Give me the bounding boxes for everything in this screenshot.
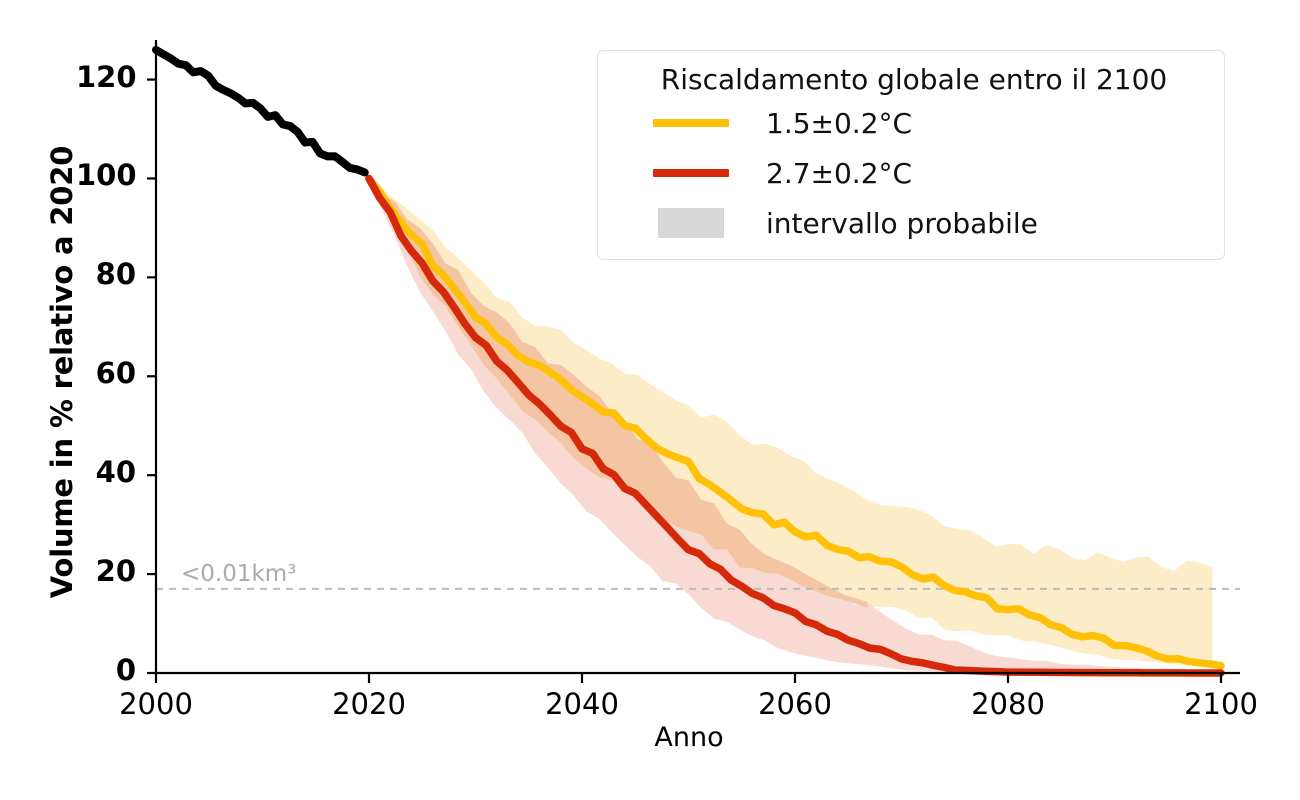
legend-label-warm27: 2.7±0.2°C <box>766 157 912 190</box>
y-tick-label: 0 <box>76 653 136 687</box>
y-tick-label: 80 <box>76 257 136 291</box>
x-tick-label: 2040 <box>522 687 642 721</box>
x-tick-label: 2000 <box>96 687 216 721</box>
chart-legend: Riscaldamento globale entro il 2100 1.5±… <box>597 50 1225 260</box>
legend-swatch-warm27 <box>616 169 766 177</box>
x-tick-label: 2020 <box>309 687 429 721</box>
threshold-annotation: <0.01km³ <box>181 561 296 587</box>
y-tick-label: 60 <box>76 356 136 390</box>
x-tick-label: 2060 <box>735 687 855 721</box>
legend-title: Riscaldamento globale entro il 2100 <box>620 63 1208 96</box>
legend-entry-warm15: 1.5±0.2°C <box>616 98 1208 148</box>
legend-entry-interval: intervallo probabile <box>616 198 1208 248</box>
legend-entry-warm27: 2.7±0.2°C <box>616 148 1208 198</box>
legend-swatch-warm15 <box>616 119 766 127</box>
y-tick-label: 100 <box>76 158 136 192</box>
y-axis-label: Volume in % relativo a 2020 <box>45 142 79 602</box>
y-tick-label: 20 <box>76 554 136 588</box>
y-tick-label: 40 <box>76 455 136 489</box>
legend-label-interval: intervallo probabile <box>766 207 1038 240</box>
y-tick-label: 120 <box>76 60 136 94</box>
x-axis-label: Anno <box>156 722 1222 753</box>
legend-label-warm15: 1.5±0.2°C <box>766 107 912 140</box>
legend-swatch-interval <box>616 208 766 238</box>
x-tick-label: 2080 <box>948 687 1068 721</box>
x-tick-label: 2100 <box>1161 687 1281 721</box>
